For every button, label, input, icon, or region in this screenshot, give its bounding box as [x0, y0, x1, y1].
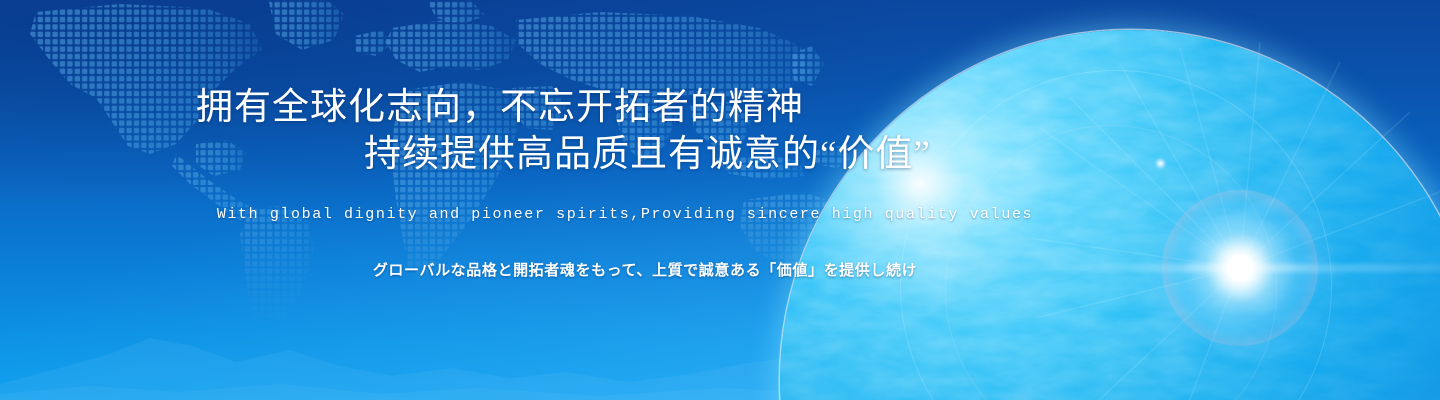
headline-line-2: 持续提供高品质且有诚意的“价值”	[0, 131, 1060, 178]
hero-banner: 拥有全球化志向，不忘开拓者的精神 持续提供高品质且有诚意的“价值” With g…	[0, 0, 1440, 400]
subtitle-japanese: グローバルな品格と開拓者魂をもって、上質で誠意ある「価値」を提供し続け	[0, 259, 1290, 280]
headline: 拥有全球化志向，不忘开拓者的精神 持续提供高品质且有诚意的“价值”	[0, 84, 1060, 178]
subtitle-english: With global dignity and pioneer spirits,…	[0, 206, 1250, 223]
banner-copy: 拥有全球化志向，不忘开拓者的精神 持续提供高品质且有诚意的“价值” With g…	[0, 0, 1440, 400]
headline-line-1: 拥有全球化志向，不忘开拓者的精神	[0, 84, 1060, 131]
